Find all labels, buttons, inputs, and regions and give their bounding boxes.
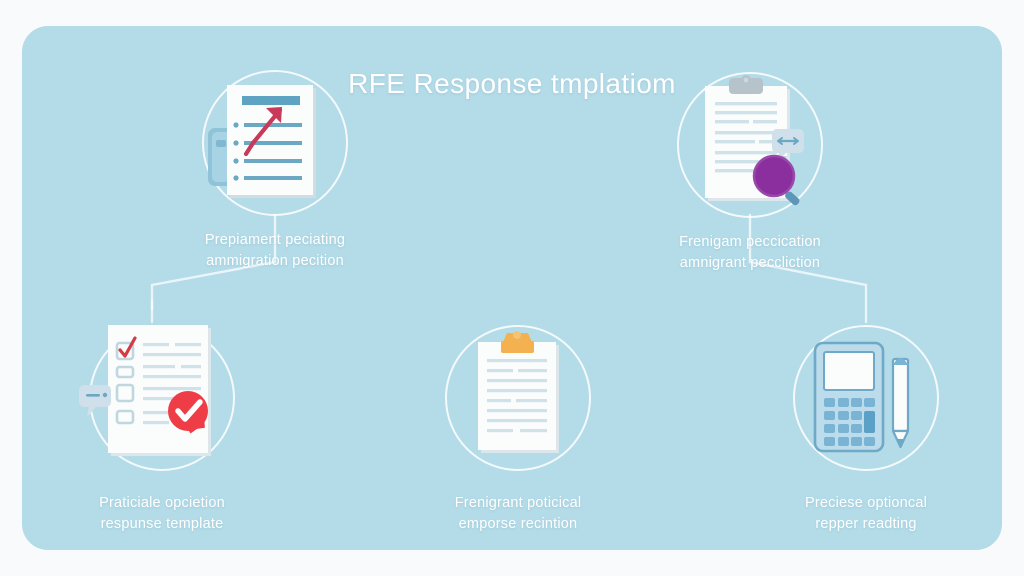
checklist-with-verified-badge-icon: [83, 325, 229, 471]
caption-line-1: Frenigam peccication: [620, 232, 880, 253]
node-caption-4: Frenigrant poticical emporse recintion: [388, 493, 648, 535]
caption-line-2: respunse template: [32, 514, 292, 535]
caption-line-1: Praticiale opcietion: [32, 493, 292, 514]
node-clipboard-document[interactable]: Frenigrant poticical emporse recintion: [388, 325, 648, 535]
node-document-growth[interactable]: Prepiament peciating ammigration pecitio…: [145, 70, 405, 272]
node-caption-3: Praticiale opcietion respunse template: [32, 493, 292, 535]
icon-circle-4: [445, 325, 591, 471]
node-checklist-verified[interactable]: Praticiale opcietion respunse template: [32, 325, 292, 535]
caption-line-2: repper readting: [736, 514, 996, 535]
icon-circle-3: [89, 325, 235, 471]
calculator-with-pencil-icon: [793, 325, 939, 471]
caption-line-2: emporse recintion: [388, 514, 648, 535]
icon-circle-5: [793, 325, 939, 471]
caption-line-2: amnigrant peccliction: [620, 253, 880, 274]
caption-line-1: Prepiament peciating: [145, 230, 405, 251]
node-calculator-pencil[interactable]: Preciese optioncal repper readting: [736, 325, 996, 535]
caption-line-1: Frenigrant poticical: [388, 493, 648, 514]
node-clipboard-magnifier[interactable]: Frenigam peccication amnigrant pecclicti…: [620, 72, 880, 274]
icon-circle-2: [677, 72, 823, 218]
caption-line-1: Preciese optioncal: [736, 493, 996, 514]
document-with-growth-arrow-icon: [202, 70, 348, 216]
clipboard-document-icon: [445, 325, 591, 471]
infographic-root: RFE Response tmplatiom: [0, 0, 1024, 576]
node-caption-5: Preciese optioncal repper readting: [736, 493, 996, 535]
node-caption-2: Frenigam peccication amnigrant pecclicti…: [620, 232, 880, 274]
node-caption-1: Prepiament peciating ammigration pecitio…: [145, 230, 405, 272]
clipboard-with-magnifier-icon: [677, 72, 823, 218]
icon-circle-1: [202, 70, 348, 216]
caption-line-2: ammigration pecition: [145, 251, 405, 272]
